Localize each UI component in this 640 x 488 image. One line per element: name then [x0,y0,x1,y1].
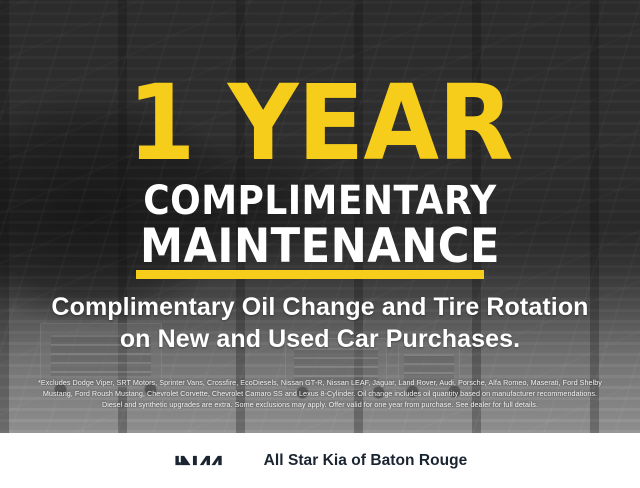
disclaimer-line-2: Mustang, Ford Roush Mustang, Chevrolet C… [14,389,626,400]
disclaimer-text: *Excludes Dodge Viper, SRT Motors, Sprin… [14,378,626,411]
headline-year: 1 YEAR [19,76,621,172]
hero-content: 1 YEAR COMPLIMENTARY MAINTENANCE Complim… [0,0,640,433]
offer-description: Complimentary Oil Change and Tire Rotati… [0,291,640,355]
offer-line-1: Complimentary Oil Change and Tire Rotati… [0,291,640,323]
disclaimer-line-1: *Excludes Dodge Viper, SRT Motors, Sprin… [14,378,626,389]
maintenance-offer-banner: 1 YEAR COMPLIMENTARY MAINTENANCE Complim… [0,0,640,488]
headline-subtitle: COMPLIMENTARY MAINTENANCE [0,180,640,272]
yellow-divider-rule [136,270,484,279]
dealer-footer: All Star Kia of Baton Rouge [0,433,640,488]
hero-section: 1 YEAR COMPLIMENTARY MAINTENANCE Complim… [0,0,640,433]
offer-line-2: on New and Used Car Purchases. [0,323,640,355]
headline-line-maintenance: MAINTENANCE [26,222,615,272]
headline-line-complimentary: COMPLIMENTARY [32,180,608,222]
disclaimer-line-3: Diesel and synthetic upgrades are extra.… [14,400,626,411]
kia-logo [173,451,247,470]
dealer-name: All Star Kia of Baton Rouge [264,452,468,470]
